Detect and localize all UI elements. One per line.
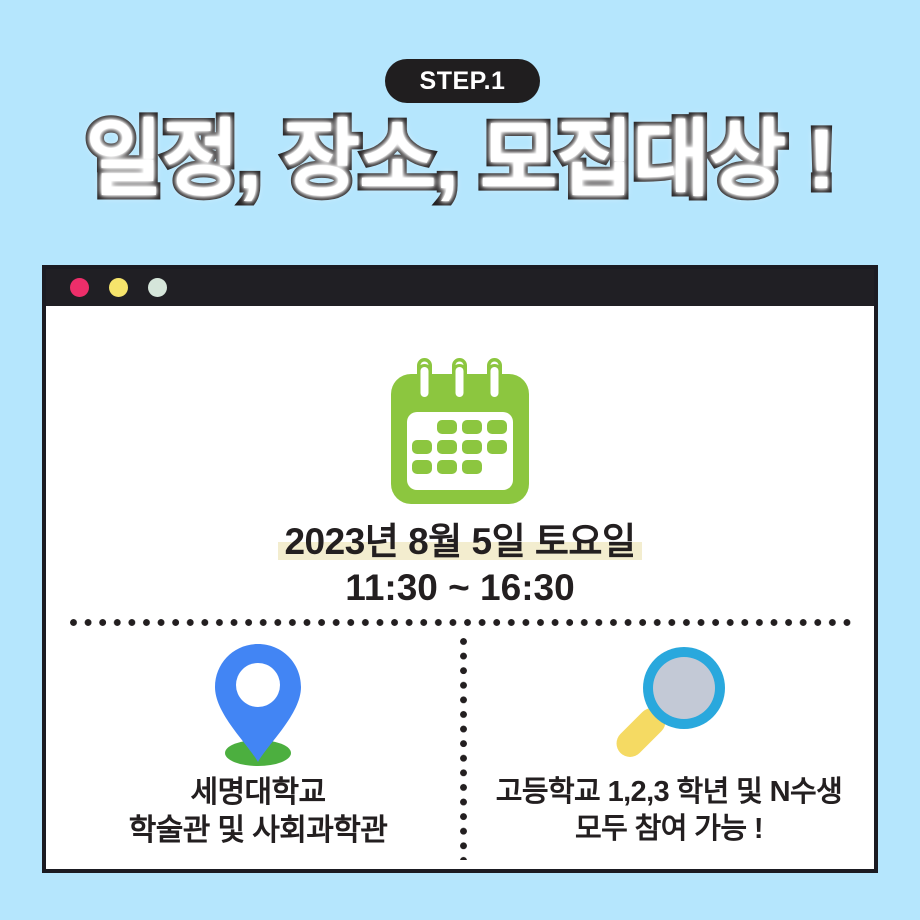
calendar-icon bbox=[387, 358, 533, 511]
minimize-dot-icon[interactable] bbox=[109, 278, 128, 297]
target-caption: 고등학교 1,2,3 학년 및 N수생 모두 참여 가능 ! bbox=[496, 774, 842, 848]
location-line-2: 학술관 및 사회과학관 bbox=[129, 812, 387, 850]
maximize-dot-icon[interactable] bbox=[148, 278, 167, 297]
divider-horizontal bbox=[70, 619, 854, 626]
target-line-2: 모두 참여 가능 ! bbox=[496, 811, 842, 848]
page-title: 일정, 장소, 모집대상 ! bbox=[0, 117, 920, 203]
target-panel: 고등학교 1,2,3 학년 및 N수생 모두 참여 가능 ! bbox=[467, 638, 871, 863]
target-line-1: 고등학교 1,2,3 학년 및 N수생 bbox=[496, 774, 842, 811]
step-badge: STEP.1 bbox=[385, 59, 540, 103]
close-dot-icon[interactable] bbox=[70, 278, 89, 297]
card-body: 2023년 8월 5일 토요일 11:30 ~ 16:30 세명대학교 학술관 … bbox=[46, 306, 874, 869]
browser-card: 2023년 8월 5일 토요일 11:30 ~ 16:30 세명대학교 학술관 … bbox=[42, 265, 878, 873]
location-line-1: 세명대학교 bbox=[129, 774, 387, 812]
event-date: 2023년 8월 5일 토요일 bbox=[284, 521, 635, 562]
date-line-wrapper: 2023년 8월 5일 토요일 bbox=[284, 521, 635, 562]
card-titlebar bbox=[46, 269, 874, 306]
map-pin-icon bbox=[208, 638, 308, 768]
divider-vertical bbox=[460, 638, 467, 860]
magnifier-icon bbox=[606, 638, 732, 768]
location-caption: 세명대학교 학술관 및 사회과학관 bbox=[129, 774, 387, 851]
location-panel: 세명대학교 학술관 및 사회과학관 bbox=[56, 638, 460, 863]
schedule-text-block: 2023년 8월 5일 토요일 11:30 ~ 16:30 bbox=[46, 521, 874, 609]
step-badge-label: STEP.1 bbox=[420, 69, 506, 94]
event-time: 11:30 ~ 16:30 bbox=[46, 567, 874, 608]
